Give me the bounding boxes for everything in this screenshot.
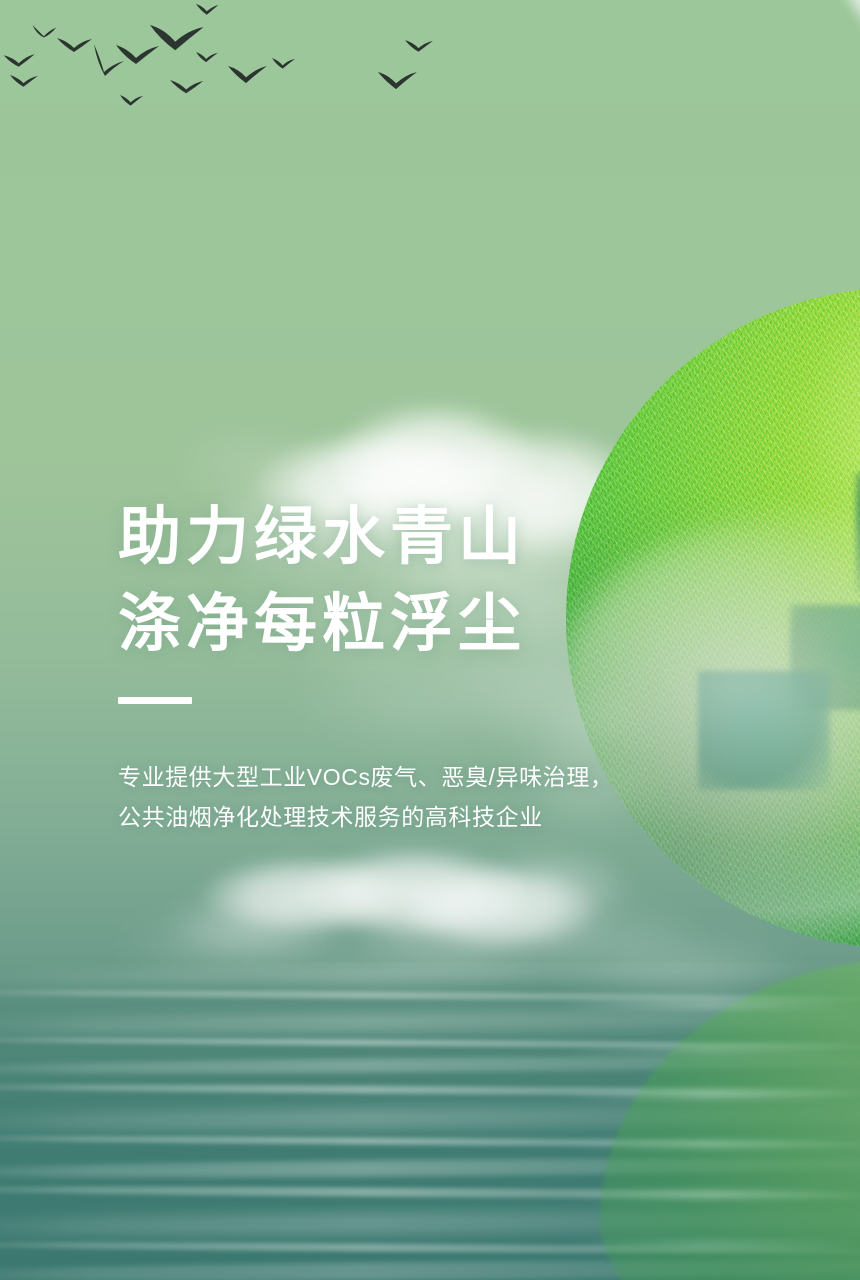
bird-icon [116,45,159,64]
hero-banner: 助力绿水青山 涤净每粒浮尘 专业提供大型工业VOCs废气、恶臭/异味治理， 公共… [0,0,860,1280]
title-divider [118,697,192,704]
bird-icon [4,54,35,67]
subtitle-line-1: 专业提供大型工业VOCs废气、恶臭/异味治理， [118,757,758,797]
reflection-streak [560,1045,860,1054]
subtitle-line-2: 公共油烟净化处理技术服务的高科技企业 [118,797,758,837]
headline-line-1: 助力绿水青山 [118,494,758,581]
bird-icon [196,52,218,62]
bird-icon [228,66,267,83]
bird-icon [272,58,295,69]
reflection-streak [560,1090,860,1099]
bird-icon [405,40,433,52]
bird-icon [378,72,417,89]
reflection-streak [560,1240,860,1249]
reflection-streak [560,1140,860,1149]
bird-icon [170,80,203,93]
bird-icon-group [4,4,433,106]
bird-icon [10,75,38,87]
flying-birds-flock [0,0,470,130]
reflection-streak [560,1190,860,1199]
bird-icon [196,4,219,15]
bird-icon [33,25,57,38]
hero-text-block: 助力绿水青山 涤净每粒浮尘 专业提供大型工业VOCs废气、恶臭/异味治理， 公共… [118,494,758,837]
bird-icon [120,95,143,106]
bird-icon [57,38,92,52]
headline-line-2: 涤净每粒浮尘 [118,581,758,668]
reflection-streak [560,1000,860,1009]
